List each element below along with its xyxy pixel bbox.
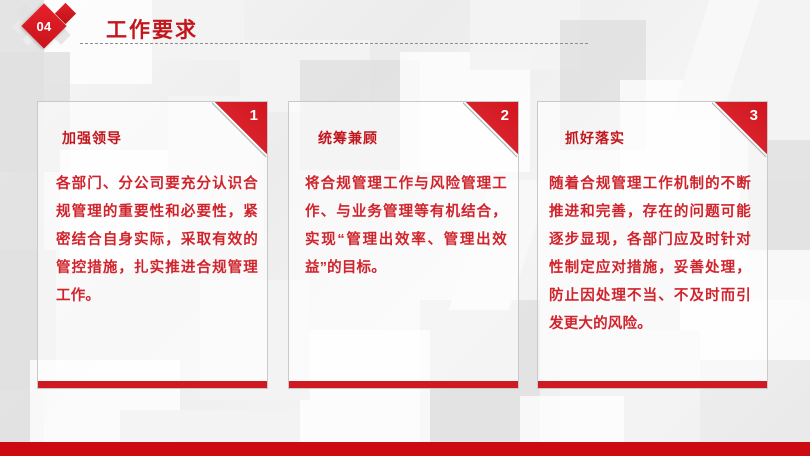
corner-fold-icon <box>463 101 519 157</box>
card-title: 抓好落实 <box>565 128 625 148</box>
corner-fold-icon <box>212 101 268 157</box>
card-underline <box>537 381 768 388</box>
card-underline <box>288 381 519 388</box>
slide-canvas: 04 工作要求 1 加强领导 各部门、分公司要充分认识合规管理的重要性和必要性，… <box>0 0 810 456</box>
header-divider <box>80 43 588 44</box>
page-title: 工作要求 <box>106 14 198 44</box>
card-number: 3 <box>750 108 758 123</box>
card-number: 2 <box>501 108 509 123</box>
card-body: 随着合规管理工作机制的不断推进和完善，存在的问题可能逐步显现，各部门应及时针对性… <box>549 170 751 338</box>
section-badge: 04 <box>14 2 90 56</box>
section-badge-number: 04 <box>28 10 60 42</box>
card-body: 将合规管理工作与风险管理工作、与业务管理等有机结合，实现“管理出效率、管理出效益… <box>305 170 507 282</box>
card-body: 各部门、分公司要充分认识合规管理的重要性和必要性，紧密结合自身实际，采取有效的管… <box>56 170 258 310</box>
card-title: 加强领导 <box>62 128 122 148</box>
corner-fold-icon <box>712 101 768 157</box>
card-number: 1 <box>250 108 258 123</box>
slide-header: 04 工作要求 <box>0 0 810 60</box>
bg-shape <box>120 410 300 442</box>
footer-bar <box>0 442 810 456</box>
bg-shape <box>520 396 624 442</box>
card-title: 统筹兼顾 <box>318 128 378 148</box>
card-underline <box>37 381 268 388</box>
